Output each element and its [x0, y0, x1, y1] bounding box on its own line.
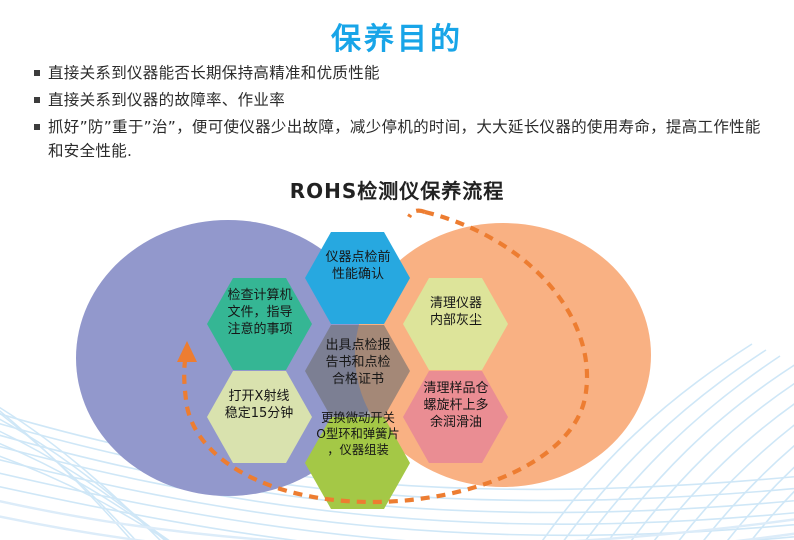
- list-item-label: 直接关系到仪器的故障率、作业率: [48, 88, 285, 112]
- section-title: ROHS检测仪保养流程: [0, 175, 794, 204]
- process-loop-lead: [409, 211, 425, 217]
- square-bullet-icon: [34, 70, 40, 76]
- square-bullet-icon: [34, 124, 40, 130]
- list-item: 抓好”防”重于”治”，便可使仪器少出故障，减少停机的时间，大大延长仪器的使用寿命…: [34, 115, 764, 163]
- slide-canvas: 保养目的 直接关系到仪器能否长期保持高精准和优质性能 直接关系到仪器的故障率、作…: [0, 0, 794, 540]
- list-item-label: 直接关系到仪器能否长期保持高精准和优质性能: [48, 61, 380, 85]
- square-bullet-icon: [34, 97, 40, 103]
- bullet-list: 直接关系到仪器能否长期保持高精准和优质性能 直接关系到仪器的故障率、作业率 抓好…: [34, 61, 764, 166]
- page-title: 保养目的: [0, 14, 794, 58]
- list-item-label: 抓好”防”重于”治”，便可使仪器少出故障，减少停机的时间，大大延长仪器的使用寿命…: [48, 115, 764, 163]
- list-item: 直接关系到仪器能否长期保持高精准和优质性能: [34, 61, 764, 85]
- list-item: 直接关系到仪器的故障率、作业率: [34, 88, 764, 112]
